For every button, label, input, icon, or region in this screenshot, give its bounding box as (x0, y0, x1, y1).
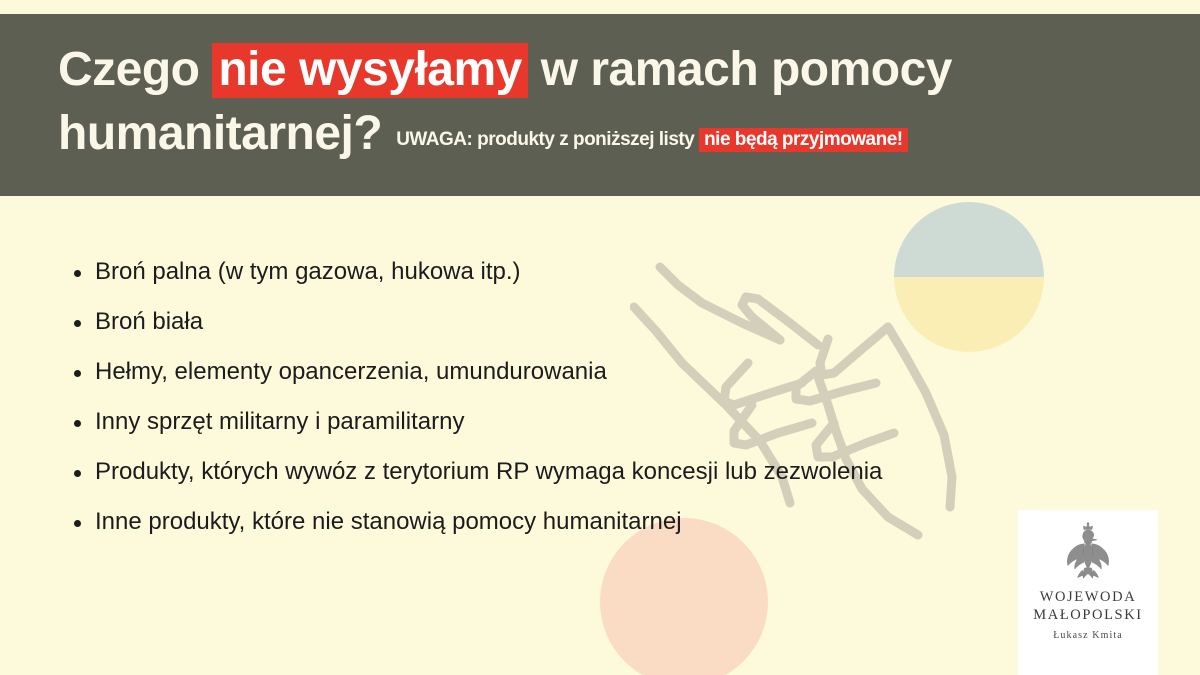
list-item: Inne produkty, które nie stanowią pomocy… (68, 506, 1068, 538)
list-item: Broń palna (w tym gazowa, hukowa itp.) (68, 256, 1068, 288)
polish-eagle-icon (1059, 522, 1117, 584)
page-title-line-2: humanitarnej? (58, 102, 382, 166)
prohibited-items-list: Broń palna (w tym gazowa, hukowa itp.) B… (68, 256, 1068, 538)
title-segment-after-highlight: w ramach pomocy (528, 43, 952, 96)
subtitle-prefix: UWAGA: produkty z poniższej listy (396, 129, 699, 150)
logo-person-name: Łukasz Kmita (1033, 628, 1142, 644)
title-block: Czego nie wysyłamy w ramach pomocy human… (58, 38, 1168, 166)
title-segment-before-highlight: Czego (58, 43, 212, 96)
page-title-line-1: Czego nie wysyłamy w ramach pomocy (58, 38, 1168, 102)
header-band: Czego nie wysyłamy w ramach pomocy human… (0, 14, 1200, 196)
page-title-line-2-row: humanitarnej? UWAGA: produkty z poniższe… (58, 102, 1168, 166)
subtitle-highlight-not-accepted: nie będą przyjmowane! (699, 128, 908, 152)
logo-line-wojewoda: WOJEWODA (1033, 588, 1142, 606)
wojewoda-malopolski-logo-card: WOJEWODA MAŁOPOLSKI Łukasz Kmita (1018, 510, 1158, 675)
list-item: Produkty, których wywóz z terytorium RP … (68, 456, 1068, 488)
subtitle-notice: UWAGA: produkty z poniższej listy nie bę… (396, 128, 907, 152)
title-highlight-nie-wysylamy: nie wysyłamy (212, 43, 528, 98)
logo-line-malopolski: MAŁOPOLSKI (1033, 606, 1142, 624)
slide-canvas: Czego nie wysyłamy w ramach pomocy human… (0, 0, 1200, 675)
logo-text-block: WOJEWODA MAŁOPOLSKI Łukasz Kmita (1033, 588, 1142, 644)
peach-circle (600, 518, 768, 675)
list-item: Broń biała (68, 306, 1068, 338)
list-item: Inny sprzęt militarny i paramilitarny (68, 406, 1068, 438)
list-item: Hełmy, elementy opancerzenia, umundurowa… (68, 356, 1068, 388)
